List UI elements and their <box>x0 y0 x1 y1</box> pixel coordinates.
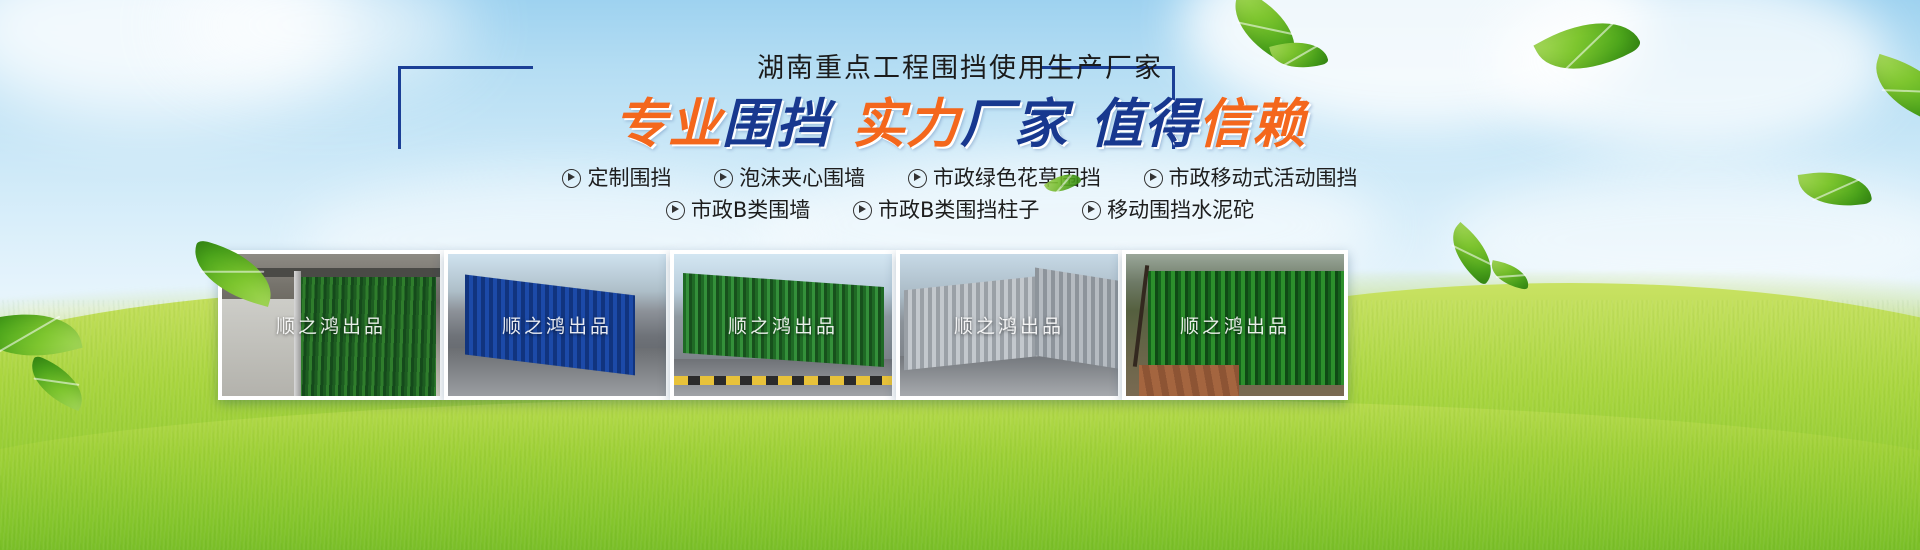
feature-label: 市政B类围挡柱子 <box>878 198 1039 222</box>
slogan-part-4: 厂家 <box>960 94 1068 155</box>
feature-label: 市政移动式活动围挡 <box>1169 166 1358 190</box>
product-photo[interactable]: 顺之鸿出品 <box>1122 250 1348 400</box>
feature-item[interactable]: 泡沫夹心围墙 <box>714 165 865 191</box>
slogan-part-3: 实力 <box>852 94 960 155</box>
photo-watermark: 顺之鸿出品 <box>900 312 1118 339</box>
play-circle-icon <box>1144 169 1163 188</box>
feature-list-row-1: 定制围挡 泡沫夹心围墙 市政绿色花草围挡 市政移动式活动围挡 <box>0 164 1920 191</box>
photo-watermark: 顺之鸿出品 <box>1126 312 1344 339</box>
feature-label: 定制围挡 <box>587 166 671 190</box>
banner-slogan: 专业围挡实力厂家值得信赖 <box>0 96 1920 154</box>
product-photo[interactable]: 顺之鸿出品 <box>218 250 444 400</box>
feature-label: 市政B类围墙 <box>691 198 810 222</box>
product-photo[interactable]: 顺之鸿出品 <box>896 250 1122 400</box>
product-photo[interactable]: 顺之鸿出品 <box>444 250 670 400</box>
feature-label: 泡沫夹心围墙 <box>739 166 865 190</box>
feature-label: 移动围挡水泥砣 <box>1107 198 1254 222</box>
promo-banner: 湖南重点工程围挡使用生产厂家 专业围挡实力厂家值得信赖 定制围挡 泡沫夹心围墙 … <box>0 0 1920 550</box>
play-circle-icon <box>714 169 733 188</box>
photo-watermark: 顺之鸿出品 <box>448 312 666 339</box>
feature-item[interactable]: 市政B类围墙 <box>666 197 810 223</box>
play-circle-icon <box>666 201 685 220</box>
photo-detail <box>674 376 892 385</box>
photo-image: 顺之鸿出品 <box>222 254 440 396</box>
photo-image: 顺之鸿出品 <box>448 254 666 396</box>
photo-image: 顺之鸿出品 <box>674 254 892 396</box>
slogan-part-6: 信赖 <box>1198 94 1306 155</box>
photo-image: 顺之鸿出品 <box>1126 254 1344 396</box>
feature-label: 市政绿色花草围挡 <box>933 166 1101 190</box>
slogan-part-5: 值得 <box>1090 94 1198 155</box>
photo-watermark: 顺之鸿出品 <box>222 312 440 339</box>
play-circle-icon <box>562 169 581 188</box>
feature-item[interactable]: 定制围挡 <box>562 165 671 191</box>
feature-item[interactable]: 市政B类围挡柱子 <box>853 197 1039 223</box>
banner-subtitle: 湖南重点工程围挡使用生产厂家 <box>0 52 1920 86</box>
feature-item[interactable]: 市政绿色花草围挡 <box>908 165 1101 191</box>
play-circle-icon <box>1082 201 1101 220</box>
feature-list-row-2: 市政B类围墙 市政B类围挡柱子 移动围挡水泥砣 <box>0 196 1920 223</box>
photo-watermark: 顺之鸿出品 <box>674 312 892 339</box>
slogan-part-2: 围挡 <box>722 94 830 155</box>
play-circle-icon <box>853 201 872 220</box>
photo-image: 顺之鸿出品 <box>900 254 1118 396</box>
feature-item[interactable]: 移动围挡水泥砣 <box>1082 197 1254 223</box>
feature-item[interactable]: 市政移动式活动围挡 <box>1144 165 1358 191</box>
play-circle-icon <box>908 169 927 188</box>
photo-detail <box>1139 365 1239 396</box>
product-photo[interactable]: 顺之鸿出品 <box>670 250 896 400</box>
slogan-part-1: 专业 <box>614 94 722 155</box>
